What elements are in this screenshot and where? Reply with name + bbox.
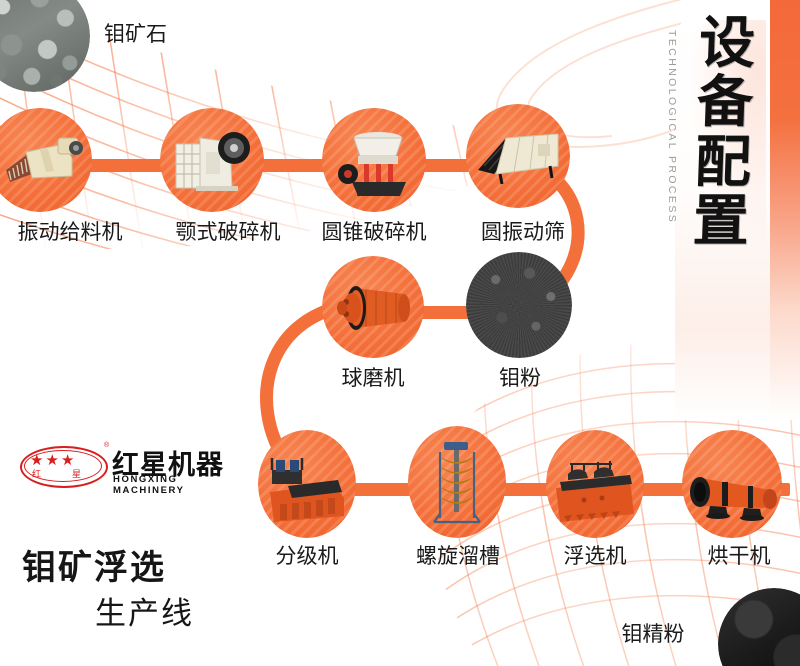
label-vibrating-feeder: 振动给料机 (0, 216, 140, 246)
node-moly-powder[interactable] (466, 252, 572, 358)
label-flotation-machine: 浮选机 (544, 540, 646, 570)
node-spiral-chute[interactable] (408, 426, 506, 538)
label-ball-mill: 球磨机 (318, 362, 428, 392)
label-dryer: 烘干机 (688, 540, 790, 570)
brand-name-en: HONGXING MACHINERY (113, 474, 230, 496)
label-moly-powder: 钼粉 (470, 362, 570, 392)
node-cone-crusher[interactable] (322, 108, 426, 212)
label-ore: 钼矿石 (104, 18, 167, 48)
process-flow-poster: 钼矿石 振动给料机 (0, 0, 800, 666)
label-classifier: 分级机 (256, 540, 358, 570)
ore-chunks-icon (0, 0, 90, 92)
node-ball-mill[interactable] (322, 256, 424, 358)
vertical-title-char-4: 置 (682, 192, 762, 251)
spiral-chute-icon (408, 426, 506, 538)
label-cone-crusher: 圆锥破碎机 (304, 216, 444, 246)
vibrating-screen-icon (466, 104, 570, 208)
label-spiral-chute: 螺旋溜槽 (398, 540, 518, 570)
jaw-crusher-icon (160, 108, 264, 212)
label-jaw-crusher: 颚式破碎机 (158, 216, 298, 246)
node-ore[interactable] (0, 0, 90, 92)
ball-mill-icon (322, 256, 424, 358)
node-dryer[interactable] (682, 430, 782, 538)
vibrating-feeder-icon (0, 108, 92, 212)
rotary-dryer-icon (682, 430, 782, 538)
node-vibrating-screen[interactable] (466, 104, 570, 208)
registered-mark-icon: ® (104, 442, 109, 449)
logo-stars-icon: ★★★ (30, 453, 94, 468)
vertical-title-char-1: 设 (688, 14, 768, 73)
node-vibrating-feeder[interactable] (0, 108, 92, 212)
node-flotation-machine[interactable] (546, 430, 644, 538)
vertical-subtitle: TECHNOLOGICAL PROCESS (666, 30, 678, 224)
vertical-title-char-3: 配 (684, 133, 764, 192)
black-powder-icon (718, 588, 800, 666)
node-classifier[interactable] (258, 430, 356, 538)
vertical-title-char-2: 备 (686, 73, 766, 132)
node-jaw-crusher[interactable] (160, 108, 264, 212)
vertical-title: 设 备 配 置 (682, 14, 768, 251)
node-moly-concentrate[interactable] (718, 588, 800, 666)
flotation-cell-icon (546, 430, 644, 538)
logo-mark-char-right: 星 (72, 467, 81, 480)
headline-line-2: 生产线 (95, 588, 194, 633)
cone-crusher-icon (322, 108, 426, 212)
headline-line-1: 钼矿浮选 (22, 540, 166, 589)
spiral-classifier-icon (258, 430, 356, 538)
dark-powder-icon (466, 252, 572, 358)
label-vibrating-screen: 圆振动筛 (458, 216, 588, 246)
logo-mark-char-left: 红 (32, 467, 41, 480)
label-moly-concentrate: 钼精粉 (608, 618, 698, 648)
brand-logo[interactable]: ★★★ 红 星 ® 红星机器 HONGXING MACHINERY (20, 442, 230, 490)
